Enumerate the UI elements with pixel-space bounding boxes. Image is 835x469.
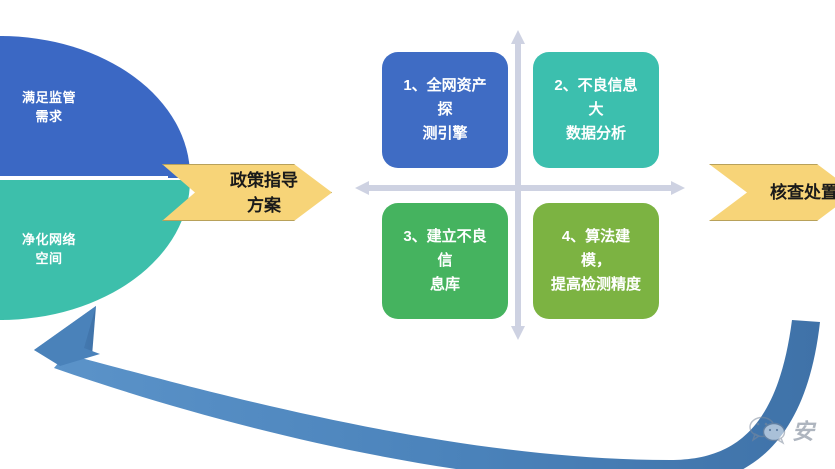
outcome-semicircle-top: 满足监管 需求 [0,36,190,176]
quadrant-box-2[interactable]: 2、不良信息大 数据分析 [533,52,659,168]
watermark: 安 [748,408,835,452]
policy-chevron-line1: 政策指导 [230,168,298,193]
quadrant-box-1-line1: 1、全网资产探 [396,74,494,122]
dispose-chevron-line1: 核查处置 [770,180,835,205]
wechat-icon [748,415,788,445]
outcome-top-label: 满足监管 需求 [0,88,104,126]
outcome-semicircle-bottom: 净化网络 空间 [0,180,190,320]
outcome-bottom-label-line1: 净化网络 [0,230,104,249]
diagram-canvas: 满足监管 需求 净化网络 空间 政策指导 方案 [0,0,835,469]
quadrant-box-1-line2: 测引擎 [396,122,494,146]
quadrant-box-1[interactable]: 1、全网资产探 测引擎 [382,52,508,168]
left-outcome-cluster: 满足监管 需求 净化网络 空间 [0,36,140,320]
outcome-top-label-line1: 满足监管 [0,88,104,107]
curved-feedback-arrow [30,300,820,469]
outcome-bottom-label: 净化网络 空间 [0,230,104,268]
outcome-bottom-label-line2: 空间 [0,249,104,268]
quadrant-box-4-line2: 提高检测精度 [547,273,645,297]
policy-chevron-line2: 方案 [230,193,298,218]
horizontal-axis-double-arrow [355,181,685,195]
outcome-半圆: 满足监管 需求 净化网络 空间 [0,36,190,320]
quadrant-box-3-line1: 3、建立不良信 [396,225,494,273]
quadrant-box-3-line2: 息库 [396,273,494,297]
quadrant-box-2-line1: 2、不良信息大 [547,74,645,122]
outcome-top-label-line2: 需求 [0,107,104,126]
verification-dispose-chevron[interactable]: 核查处置 [709,164,835,221]
quadrant-box-2-line2: 数据分析 [547,122,645,146]
watermark-text: 安 [792,414,814,446]
quadrant-box-4-line1: 4、算法建模， [547,225,645,273]
